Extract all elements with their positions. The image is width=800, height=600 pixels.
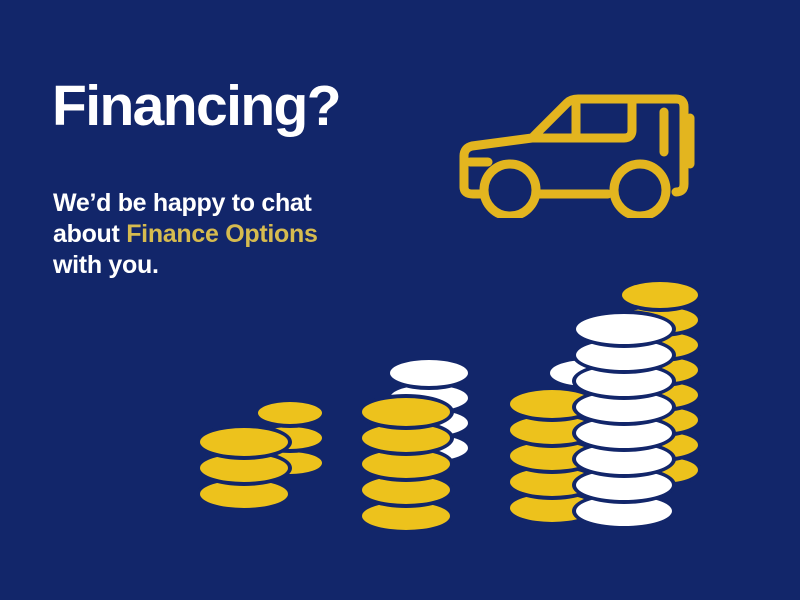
coin: [254, 398, 326, 428]
coin: [572, 492, 676, 530]
coin: [618, 378, 702, 412]
coin: [618, 428, 702, 462]
coin: [196, 424, 292, 460]
subcopy-line-3: with you.: [53, 251, 159, 279]
suv-car-icon: [448, 86, 704, 218]
coin: [506, 386, 598, 422]
coin: [618, 303, 702, 337]
coin-group-large: [506, 278, 716, 518]
coin: [506, 438, 598, 474]
coin: [196, 450, 292, 486]
coin: [618, 353, 702, 387]
coin: [254, 448, 326, 478]
promo-graphic-canvas: Financing? We’d be happy to chat about F…: [0, 0, 800, 600]
coin: [572, 362, 676, 400]
coin: [572, 466, 676, 504]
coin: [358, 394, 454, 430]
coin: [572, 440, 676, 478]
coin: [618, 403, 702, 437]
coin: [506, 490, 598, 526]
coin: [572, 388, 676, 426]
coin: [572, 310, 676, 348]
coin: [618, 328, 702, 362]
coin: [506, 464, 598, 500]
finance-options-highlight: Finance Options: [126, 220, 317, 248]
coin-group-medium: [358, 356, 508, 514]
coin: [506, 412, 598, 448]
coin: [386, 381, 472, 415]
coin: [386, 356, 472, 390]
coin-group-small: [196, 392, 346, 512]
coin: [386, 406, 472, 440]
coin: [358, 498, 454, 534]
coin: [358, 420, 454, 456]
coin: [572, 414, 676, 452]
coin: [618, 278, 702, 312]
subcopy-line-1: We’d be happy to chat: [53, 189, 312, 217]
coin: [254, 423, 326, 453]
coin: [618, 453, 702, 487]
coin: [358, 446, 454, 482]
subcopy-line-2-prefix: about: [53, 220, 126, 248]
coin: [572, 336, 676, 374]
subcopy-block: We’d be happy to chat about Finance Opti…: [53, 188, 383, 281]
coin: [196, 476, 292, 512]
page-title: Financing?: [52, 78, 340, 135]
coin: [358, 472, 454, 508]
coin: [386, 431, 472, 465]
coin: [546, 356, 628, 390]
